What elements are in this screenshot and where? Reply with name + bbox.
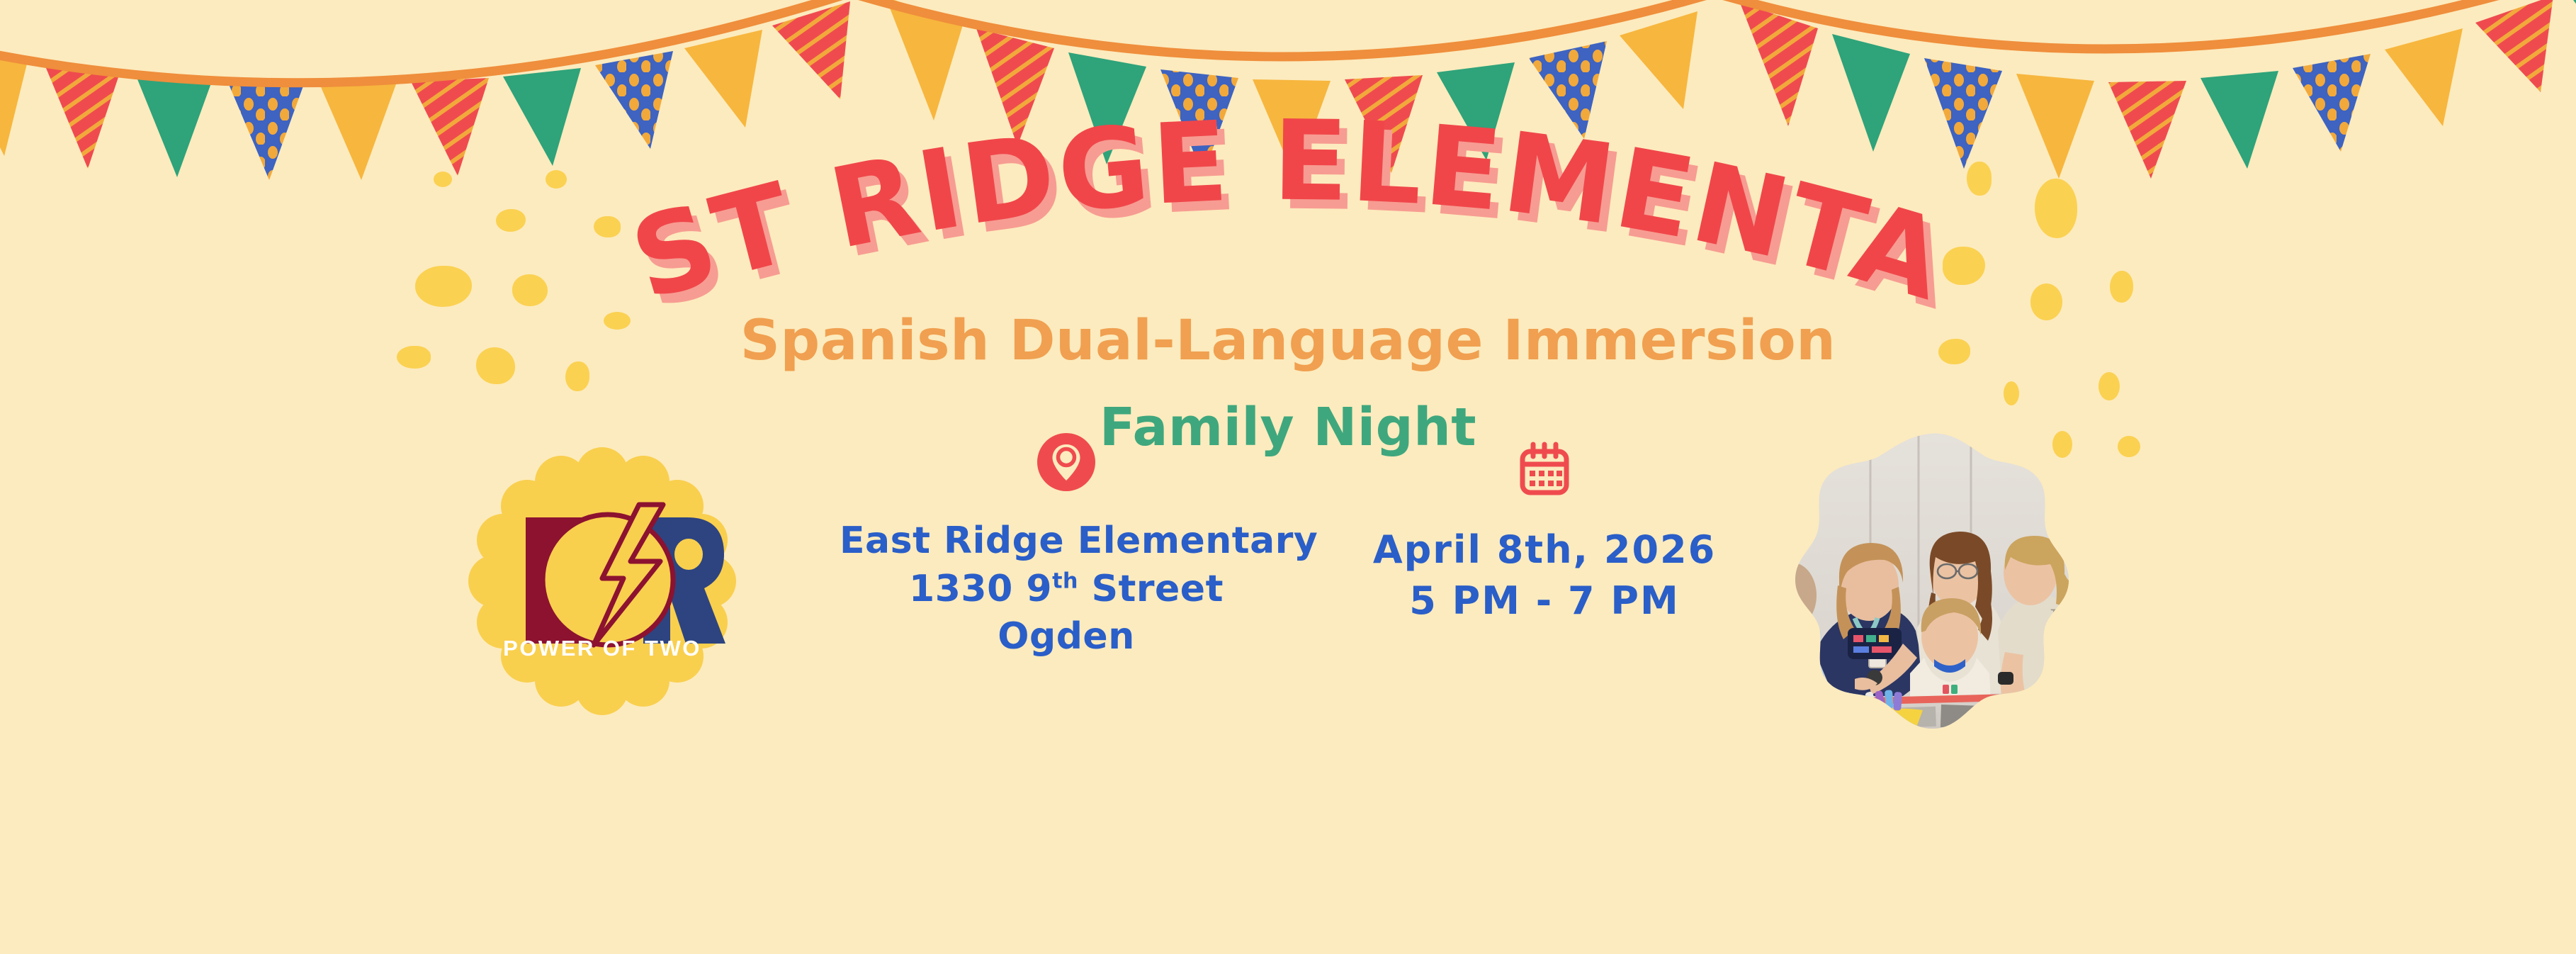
school-logo: POWER OF TWO xyxy=(453,439,751,723)
svg-text:BE: BE xyxy=(2050,602,2088,634)
svg-text:HUGGIE: HUGGIE xyxy=(2047,712,2084,722)
event-photo: BE B xyxy=(1764,418,2090,744)
street-ordinal-suffix: th xyxy=(1052,568,1078,593)
event-photo-blob: BE B xyxy=(1764,418,2090,744)
logo-badge: POWER OF TWO xyxy=(461,439,744,723)
bunting-string xyxy=(0,0,2576,83)
street-word: Street xyxy=(1092,568,1224,610)
flyer-canvas: EAST RIDGE ELEMENTARY EAST RIDGE ELEMENT… xyxy=(0,0,2576,954)
venue-name: East Ridge Elementary xyxy=(840,517,1293,566)
arched-title: EAST RIDGE ELEMENTARY EAST RIDGE ELEMENT… xyxy=(580,142,1996,319)
info-row: POWER OF TWO East Ridge Elementary 1330 … xyxy=(0,432,2576,730)
date-block: April 8th, 2026 5 PM - 7 PM xyxy=(1332,439,1757,627)
date-text-group: April 8th, 2026 5 PM - 7 PM xyxy=(1332,524,1757,627)
logo-tagline: POWER OF TWO xyxy=(503,636,701,661)
calendar-icon xyxy=(1332,439,1757,503)
street-address: 1330 9th Street xyxy=(840,566,1293,614)
street-ordinal-number: 9 xyxy=(1026,568,1052,610)
program-subtitle: Spanish Dual-Language Immersion xyxy=(0,313,2576,369)
street-number: 1330 xyxy=(909,568,1013,610)
event-date: April 8th, 2026 xyxy=(1332,524,1757,576)
map-pin-icon xyxy=(840,432,1293,496)
photo-content: BE B xyxy=(1764,418,2090,744)
location-text: East Ridge Elementary 1330 9th Street Og… xyxy=(840,517,1293,661)
event-time: 5 PM - 7 PM xyxy=(1332,576,1757,627)
title-block: EAST RIDGE ELEMENTARY EAST RIDGE ELEMENT… xyxy=(0,142,2576,454)
svg-text:B: B xyxy=(2050,629,2069,661)
location-block: East Ridge Elementary 1330 9th Street Og… xyxy=(840,432,1293,661)
city-name: Ogden xyxy=(840,613,1293,661)
